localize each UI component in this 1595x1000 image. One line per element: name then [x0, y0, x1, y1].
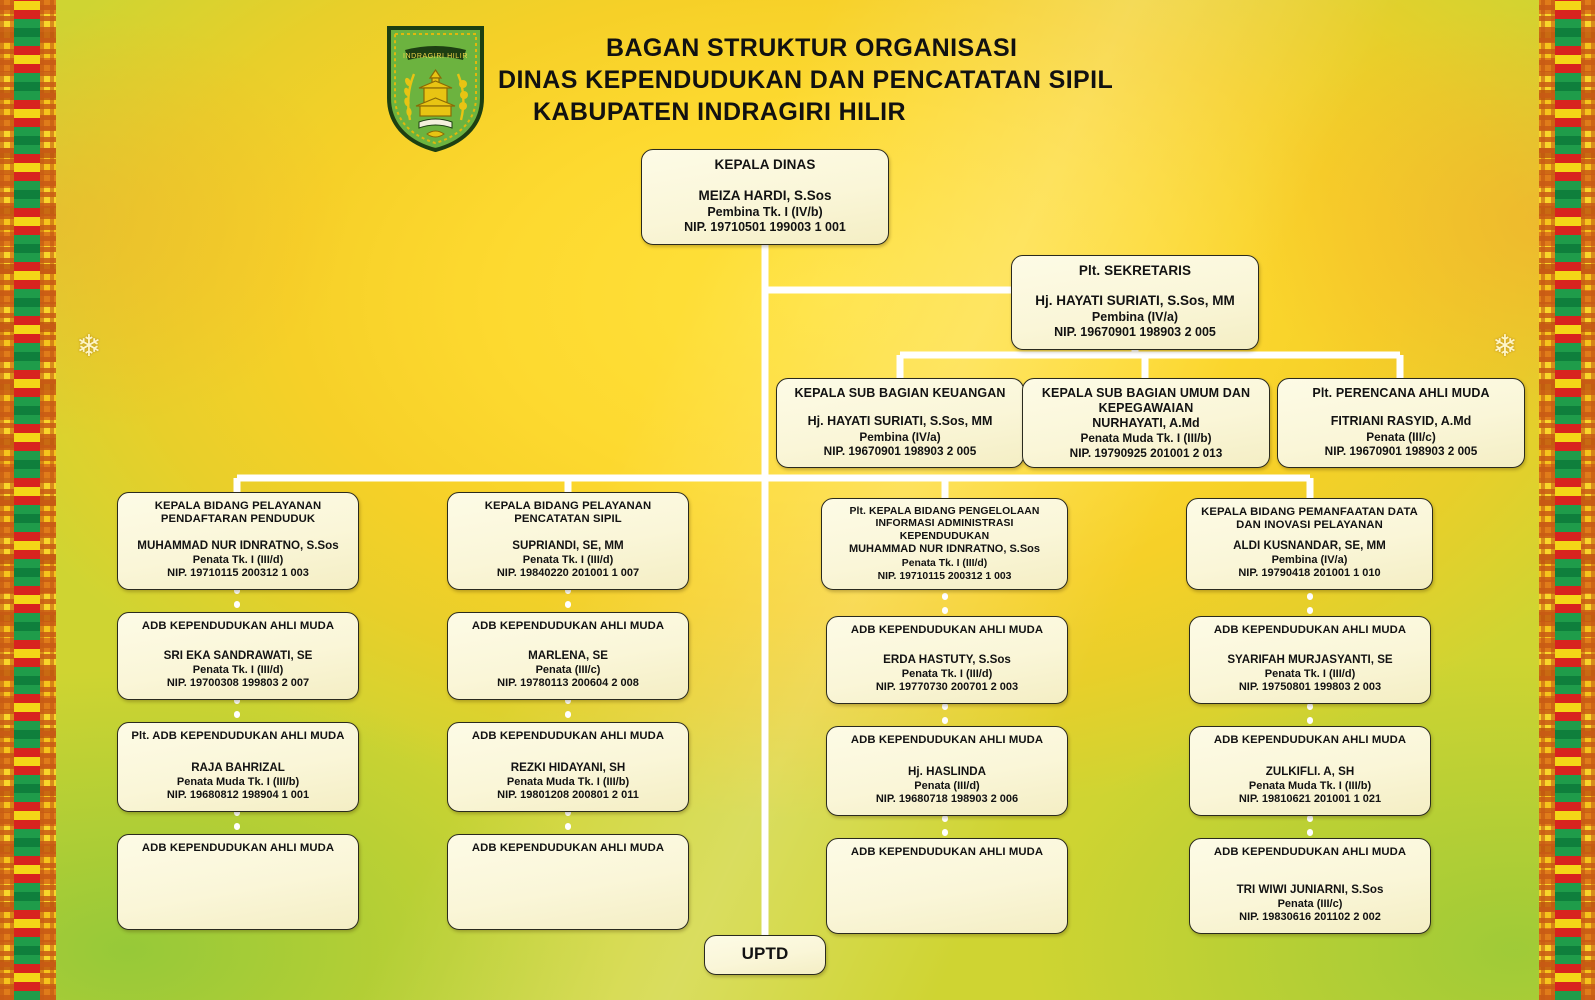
node-rank: Penata Tk. I (III/d) [456, 554, 680, 568]
node-title: KEPALA BIDANG PEMANFAATAN DATA DAN INOVA… [1195, 506, 1424, 533]
node-rank: Pembina (IV/a) [1195, 554, 1424, 568]
node-title: ADB KEPENDUDUKAN AHLI MUDA [835, 846, 1059, 859]
node-adb-kependudukan-ahli-muda[interactable]: ADB KEPENDUDUKAN AHLI MUDA SYARIFAH MURJ… [1189, 616, 1431, 704]
node-title: KEPALA SUB BAGIAN KEUANGAN [785, 386, 1015, 401]
node-person-name: MEIZA HARDI, S.Sos [650, 188, 880, 205]
node-person-name: FITRIANI RASYID, A.Md [1286, 414, 1516, 430]
node-nip: NIP. 19780113 200604 2 008 [456, 677, 680, 691]
node-rank: Penata Tk. I (III/d) [1198, 668, 1422, 682]
node-plt-perencana-ahli-muda[interactable]: Plt. PERENCANA AHLI MUDA FITRIANI RASYID… [1277, 378, 1525, 468]
node-adb-kependudukan-ahli-muda[interactable]: ADB KEPENDUDUKAN AHLI MUDA MARLENA, SE P… [447, 612, 689, 700]
node-adb-kependudukan-ahli-muda[interactable]: ADB KEPENDUDUKAN AHLI MUDA SRI EKA SANDR… [117, 612, 359, 700]
node-title: UPTD [713, 944, 817, 964]
node-nip: NIP. 19670901 198903 2 005 [1286, 444, 1516, 459]
node-nip: NIP. 19810621 201001 1 021 [1198, 793, 1422, 807]
node-title: Plt. KEPALA BIDANG PENGELOLAAN INFORMASI… [830, 506, 1059, 543]
node-title: Plt. SEKRETARIS [1020, 263, 1250, 279]
node-nip: NIP. 19670901 198903 2 005 [785, 444, 1015, 459]
node-adb-kependudukan-ahli-muda[interactable]: ADB KEPENDUDUKAN AHLI MUDA TRI WIWI JUNI… [1189, 838, 1431, 934]
node-plt-adb-kependudukan-ahli-muda[interactable]: Plt. ADB KEPENDUDUKAN AHLI MUDA RAJA BAH… [117, 722, 359, 812]
node-adb-kependudukan-ahli-muda-kosong[interactable]: ADB KEPENDUDUKAN AHLI MUDA [826, 838, 1068, 934]
node-rank: Penata Tk. I (III/d) [835, 668, 1059, 682]
node-rank: Pembina Tk. I (IV/b) [650, 205, 880, 221]
node-nip: NIP. 19801208 200801 2 011 [456, 789, 680, 803]
node-rank: Penata Tk. I (III/d) [126, 664, 350, 678]
node-adb-kependudukan-ahli-muda[interactable]: ADB KEPENDUDUKAN AHLI MUDA REZKI HIDAYAN… [447, 722, 689, 812]
node-nip: NIP. 19750801 199803 2 003 [1198, 681, 1422, 695]
node-rank: Penata (III/c) [1198, 898, 1422, 912]
node-rank: Penata Muda Tk. I (III/b) [126, 776, 350, 790]
node-rank: Penata (III/c) [1286, 430, 1516, 445]
node-title: ADB KEPENDUDUKAN AHLI MUDA [1198, 624, 1422, 637]
node-title: ADB KEPENDUDUKAN AHLI MUDA [1198, 734, 1422, 747]
node-person-name: Hj. HASLINDA [835, 765, 1059, 779]
node-person-name: Hj. HAYATI SURIATI, S.Sos, MM [1020, 293, 1250, 310]
node-rank: Penata Muda Tk. I (III/b) [456, 776, 680, 790]
node-kepala-dinas[interactable]: KEPALA DINAS MEIZA HARDI, S.Sos Pembina … [641, 149, 889, 245]
node-person-name: REZKI HIDAYANI, SH [456, 761, 680, 775]
node-title: ADB KEPENDUDUKAN AHLI MUDA [126, 620, 350, 633]
node-person-name: MARLENA, SE [456, 649, 680, 663]
node-plt-sekretaris[interactable]: Plt. SEKRETARIS Hj. HAYATI SURIATI, S.So… [1011, 255, 1259, 350]
node-title: ADB KEPENDUDUKAN AHLI MUDA [1198, 846, 1422, 859]
node-kepala-bidang-pelayanan-pencatatan-sipil[interactable]: KEPALA BIDANG PELAYANAN PENCATATAN SIPIL… [447, 492, 689, 590]
node-person-name: ZULKIFLI. A, SH [1198, 765, 1422, 779]
node-person-name: SRI EKA SANDRAWATI, SE [126, 649, 350, 663]
node-kepala-bidang-pemanfaatan-data-dan-inovasi-pelayanan[interactable]: KEPALA BIDANG PEMANFAATAN DATA DAN INOVA… [1186, 498, 1433, 590]
node-uptd[interactable]: UPTD [704, 935, 826, 975]
node-person-name: MUHAMMAD NUR IDNRATNO, S.Sos [126, 539, 350, 553]
node-kepala-sub-bagian-keuangan[interactable]: KEPALA SUB BAGIAN KEUANGAN Hj. HAYATI SU… [776, 378, 1024, 468]
node-title: ADB KEPENDUDUKAN AHLI MUDA [126, 842, 350, 855]
node-person-name: TRI WIWI JUNIARNI, S.Sos [1198, 883, 1422, 897]
node-rank: Penata (III/c) [456, 664, 680, 678]
node-rank: Penata Tk. I (III/d) [830, 557, 1059, 570]
node-kepala-sub-bagian-umum-dan-kepegawaian[interactable]: KEPALA SUB BAGIAN UMUM DAN KEPEGAWAIAN N… [1022, 378, 1270, 468]
node-nip: NIP. 19710115 200312 1 003 [830, 570, 1059, 583]
node-adb-kependudukan-ahli-muda[interactable]: ADB KEPENDUDUKAN AHLI MUDA ERDA HASTUTY,… [826, 616, 1068, 704]
node-person-name: SUPRIANDI, SE, MM [456, 539, 680, 553]
node-rank: Penata Muda Tk. I (III/b) [1031, 431, 1261, 446]
node-title: KEPALA DINAS [650, 157, 880, 173]
node-rank: Pembina (IV/a) [785, 430, 1015, 445]
node-title: ADB KEPENDUDUKAN AHLI MUDA [456, 842, 680, 855]
node-adb-kependudukan-ahli-muda-kosong[interactable]: ADB KEPENDUDUKAN AHLI MUDA [117, 834, 359, 930]
node-adb-kependudukan-ahli-muda-kosong[interactable]: ADB KEPENDUDUKAN AHLI MUDA [447, 834, 689, 930]
node-nip: NIP. 19670901 198903 2 005 [1020, 325, 1250, 341]
node-person-name: ALDI KUSNANDAR, SE, MM [1195, 539, 1424, 553]
node-kepala-bidang-pelayanan-pendaftaran-penduduk[interactable]: KEPALA BIDANG PELAYANAN PENDAFTARAN PEND… [117, 492, 359, 590]
node-title: ADB KEPENDUDUKAN AHLI MUDA [835, 624, 1059, 637]
node-nip: NIP. 19680812 198904 1 001 [126, 789, 350, 803]
node-nip: NIP. 19830616 201102 2 002 [1198, 911, 1422, 925]
node-person-name: SYARIFAH MURJASYANTI, SE [1198, 653, 1422, 667]
node-person-name: ERDA HASTUTY, S.Sos [835, 653, 1059, 667]
node-rank: Penata Tk. I (III/d) [126, 554, 350, 568]
node-nip: NIP. 19790418 201001 1 010 [1195, 567, 1424, 581]
node-nip: NIP. 19770730 200701 2 003 [835, 681, 1059, 695]
node-adb-kependudukan-ahli-muda[interactable]: ADB KEPENDUDUKAN AHLI MUDA ZULKIFLI. A, … [1189, 726, 1431, 816]
node-title: ADB KEPENDUDUKAN AHLI MUDA [456, 730, 680, 743]
node-person-name: NURHAYATI, A.Md [1031, 416, 1261, 432]
node-nip: NIP. 19700308 199803 2 007 [126, 677, 350, 691]
node-title: KEPALA BIDANG PELAYANAN PENDAFTARAN PEND… [126, 500, 350, 527]
node-title: ADB KEPENDUDUKAN AHLI MUDA [456, 620, 680, 633]
node-title: ADB KEPENDUDUKAN AHLI MUDA [835, 734, 1059, 747]
node-person-name: Hj. HAYATI SURIATI, S.Sos, MM [785, 414, 1015, 430]
node-nip: NIP. 19680718 198903 2 006 [835, 793, 1059, 807]
node-title: KEPALA SUB BAGIAN UMUM DAN KEPEGAWAIAN [1031, 386, 1261, 416]
node-nip: NIP. 19790925 201001 2 013 [1031, 446, 1261, 461]
node-rank: Penata Muda Tk. I (III/b) [1198, 780, 1422, 794]
node-nip: NIP. 19710115 200312 1 003 [126, 567, 350, 581]
node-nip: NIP. 19840220 201001 1 007 [456, 567, 680, 581]
node-plt-kepala-bidang-pengelolaan-informasi-administrasi-kependudukan[interactable]: Plt. KEPALA BIDANG PENGELOLAAN INFORMASI… [821, 498, 1068, 590]
node-rank: Penata (III/d) [835, 780, 1059, 794]
node-title: KEPALA BIDANG PELAYANAN PENCATATAN SIPIL [456, 500, 680, 527]
node-title: Plt. PERENCANA AHLI MUDA [1286, 386, 1516, 401]
node-nip: NIP. 19710501 199003 1 001 [650, 220, 880, 236]
node-title: Plt. ADB KEPENDUDUKAN AHLI MUDA [126, 730, 350, 743]
node-person-name: RAJA BAHRIZAL [126, 761, 350, 775]
node-adb-kependudukan-ahli-muda[interactable]: ADB KEPENDUDUKAN AHLI MUDA Hj. HASLINDA … [826, 726, 1068, 816]
node-person-name: MUHAMMAD NUR IDNRATNO, S.Sos [830, 543, 1059, 557]
node-rank: Pembina (IV/a) [1020, 310, 1250, 326]
organization-chart-poster: ❄ ❄ INDRAGIRI HILIR [0, 0, 1595, 1000]
